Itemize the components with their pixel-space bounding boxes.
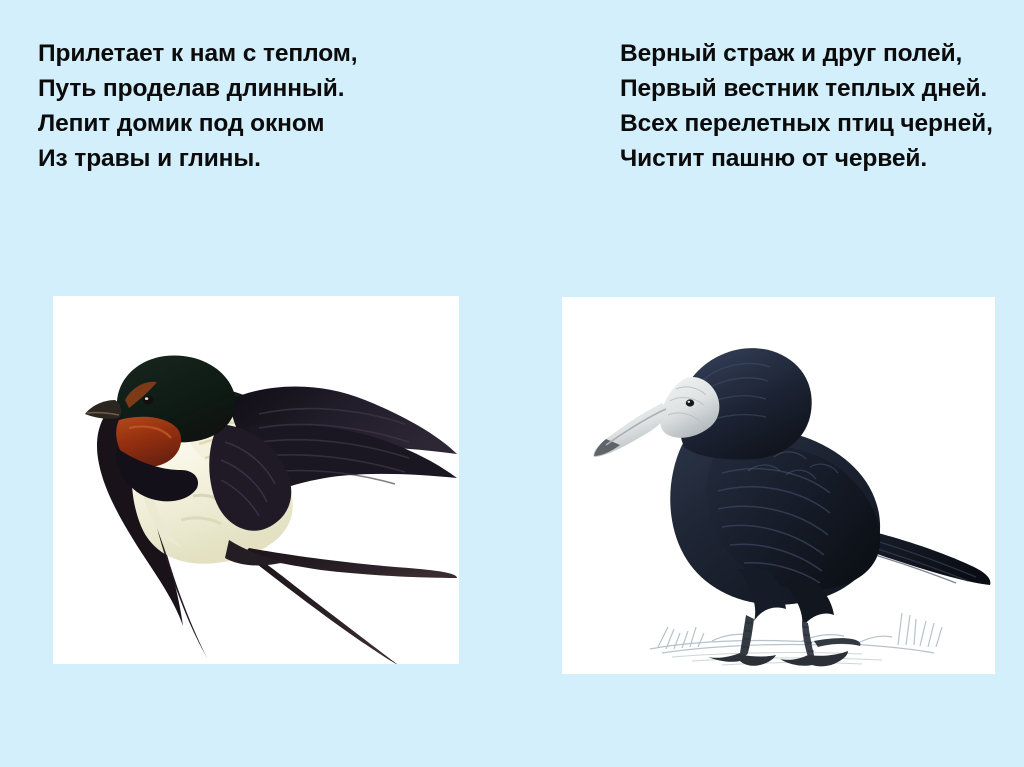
image-panel-rook: Грач стоит на земле среди травы (562, 297, 995, 674)
swallow-eye-highlight (145, 397, 148, 400)
riddle-line: Чистит пашню от червей. (620, 141, 993, 176)
riddle-line: Верный страж и друг полей, (620, 36, 993, 71)
riddle-line: Всех перелетных птиц черней, (620, 106, 993, 141)
swallow-eye (143, 396, 153, 405)
rook-eye-highlight (688, 401, 691, 403)
riddle-line: Лепит домик под окном (38, 106, 358, 141)
riddle-line: Прилетает к нам с теплом, (38, 36, 358, 71)
rook-eye (686, 399, 694, 406)
rook-illustration (562, 297, 995, 674)
riddle-line: Из травы и глины. (38, 141, 358, 176)
slide-root: Прилетает к нам с теплом, Путь проделав … (0, 0, 1024, 767)
riddle-text-swallow: Прилетает к нам с теплом, Путь проделав … (38, 36, 358, 176)
riddle-text-rook: Верный страж и друг полей, Первый вестни… (620, 36, 993, 176)
image-panel-swallow: Барн-ласточка в полёте с раздвоенным хво… (53, 296, 459, 664)
riddle-line: Путь проделав длинный. (38, 71, 358, 106)
swallow-illustration (53, 296, 459, 664)
riddle-line: Первый вестник теплых дней. (620, 71, 993, 106)
